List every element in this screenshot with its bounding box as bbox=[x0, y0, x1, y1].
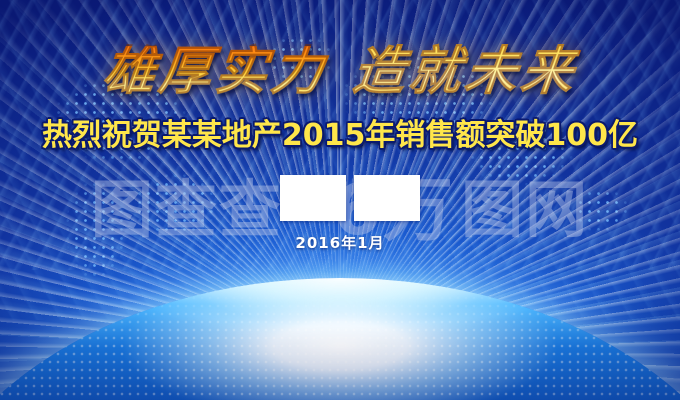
date-text: 2016年1月 bbox=[0, 232, 680, 253]
headline-segment-2: 造就未来 bbox=[350, 42, 580, 102]
subtitle-text: 热烈祝贺某某地产2015年销售额突破100亿 bbox=[0, 119, 680, 152]
logo-placeholder-right bbox=[354, 175, 420, 221]
page-title: 雄厚实力造就未来 bbox=[0, 46, 680, 98]
headline-segment-1: 雄厚实力 bbox=[100, 42, 330, 102]
light-burst-core bbox=[125, 271, 555, 400]
logo-placeholder-group bbox=[280, 175, 420, 221]
banner-canvas: 图查查 X 6万 图网 雄厚实力造就未来 热烈祝贺某某地产2015年销售额突破1… bbox=[0, 0, 680, 400]
logo-placeholder-left bbox=[280, 175, 346, 221]
